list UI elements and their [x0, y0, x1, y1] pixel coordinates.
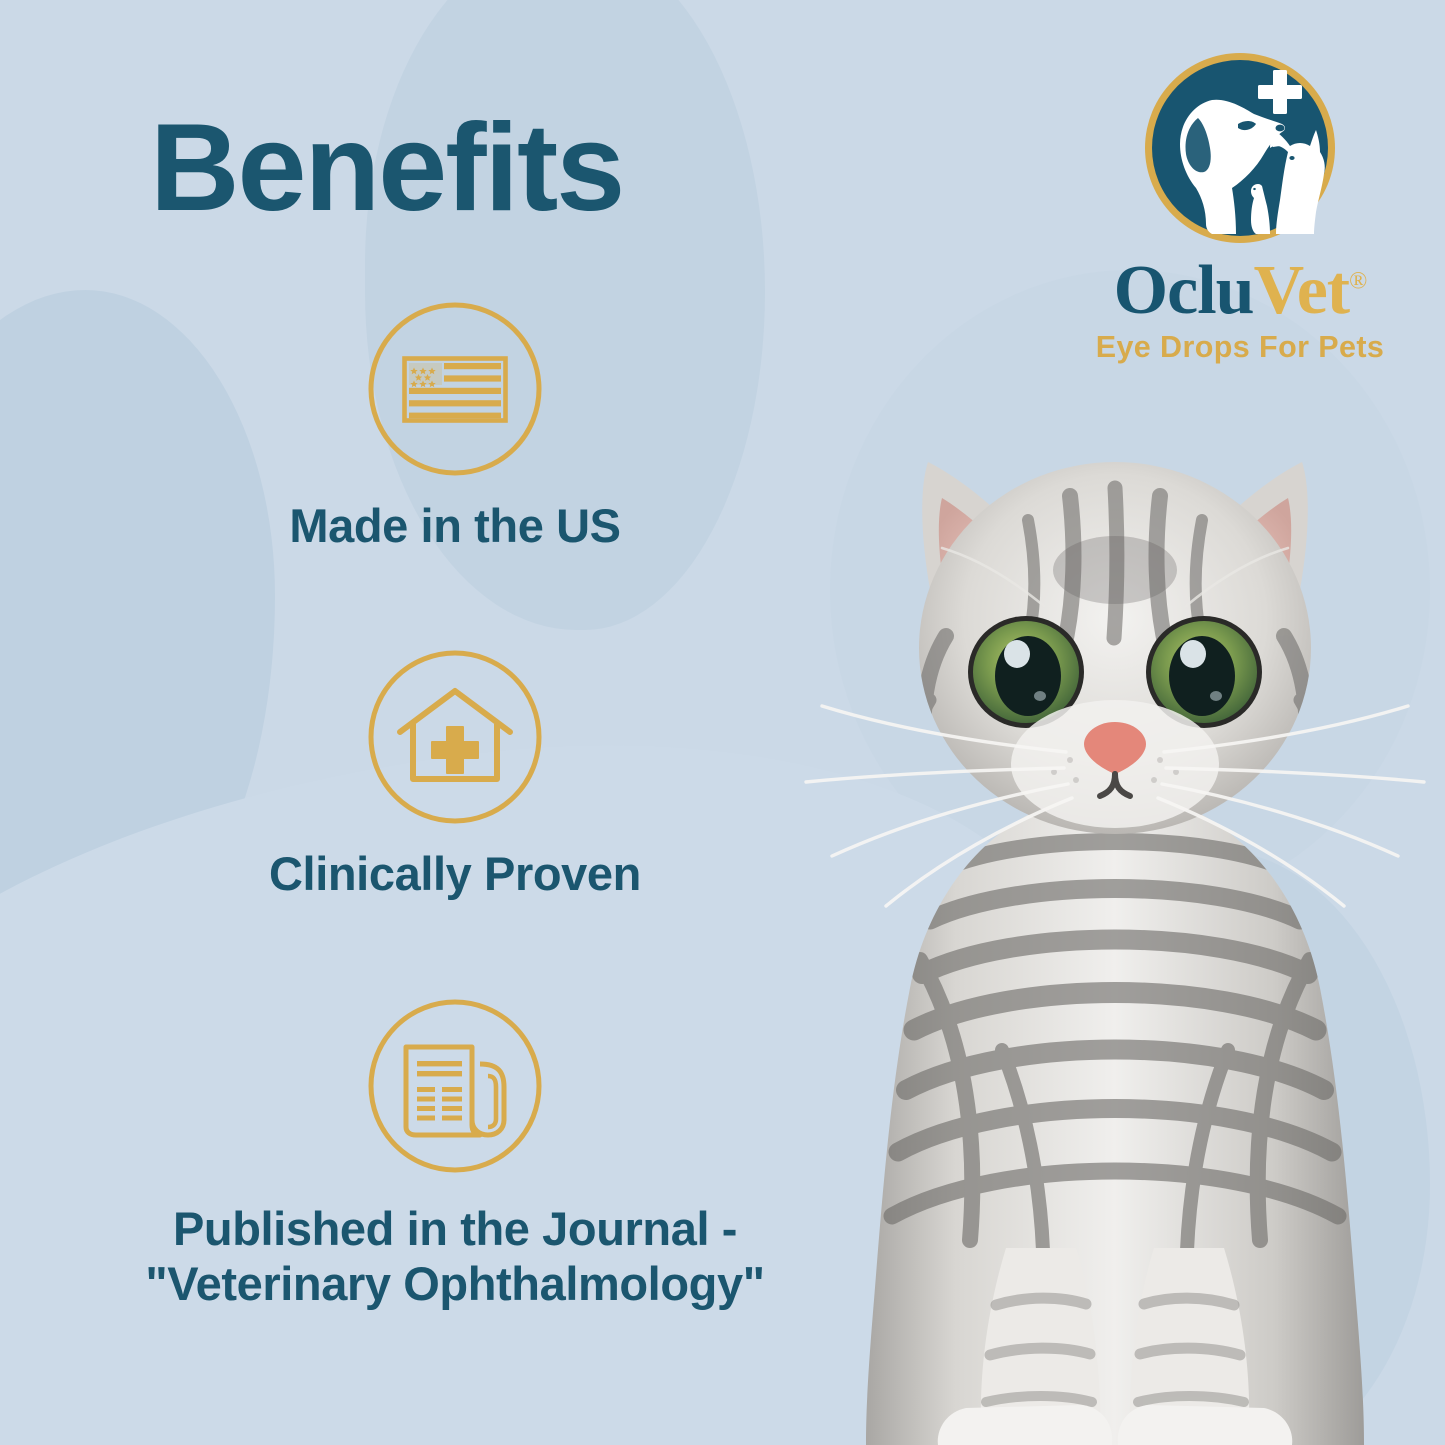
brand-wordmark-part-1: Oclu — [1114, 252, 1254, 329]
benefits-list: Made in the US Clinically Proven — [60, 300, 850, 1312]
benefit-item-clinically-proven: Clinically Proven — [60, 648, 850, 901]
newspaper-journal-icon — [366, 997, 544, 1175]
benefit-label: Published in the Journal - "Veterinary O… — [60, 1201, 850, 1312]
registered-trademark-mark: ® — [1349, 269, 1366, 295]
brand-wordmark: OcluVet® — [1045, 256, 1435, 326]
benefit-item-published-journal: Published in the Journal - "Veterinary O… — [60, 997, 850, 1312]
cat-photo — [770, 400, 1445, 1445]
benefit-label-line-2: "Veterinary Ophthalmology" — [60, 1256, 850, 1311]
benefits-infographic: Benefits — [0, 0, 1445, 1445]
cat-paw-right — [1118, 1405, 1293, 1445]
us-flag-icon — [366, 300, 544, 478]
page-title: Benefits — [150, 106, 623, 230]
benefit-label-line-1: Published in the Journal - — [60, 1201, 850, 1256]
benefit-item-made-in-us: Made in the US — [60, 300, 850, 553]
dog-cat-bird-medical-badge-icon — [1140, 48, 1340, 248]
cat-paw-left — [938, 1405, 1113, 1445]
clinic-house-cross-icon — [366, 648, 544, 826]
benefit-label: Clinically Proven — [60, 846, 850, 901]
brand-logo[interactable]: OcluVet® Eye Drops For Pets — [1045, 48, 1435, 365]
benefit-label: Made in the US — [60, 498, 850, 553]
brand-tagline: Eye Drops For Pets — [1045, 330, 1435, 365]
brand-wordmark-part-2: Vet — [1254, 252, 1350, 329]
